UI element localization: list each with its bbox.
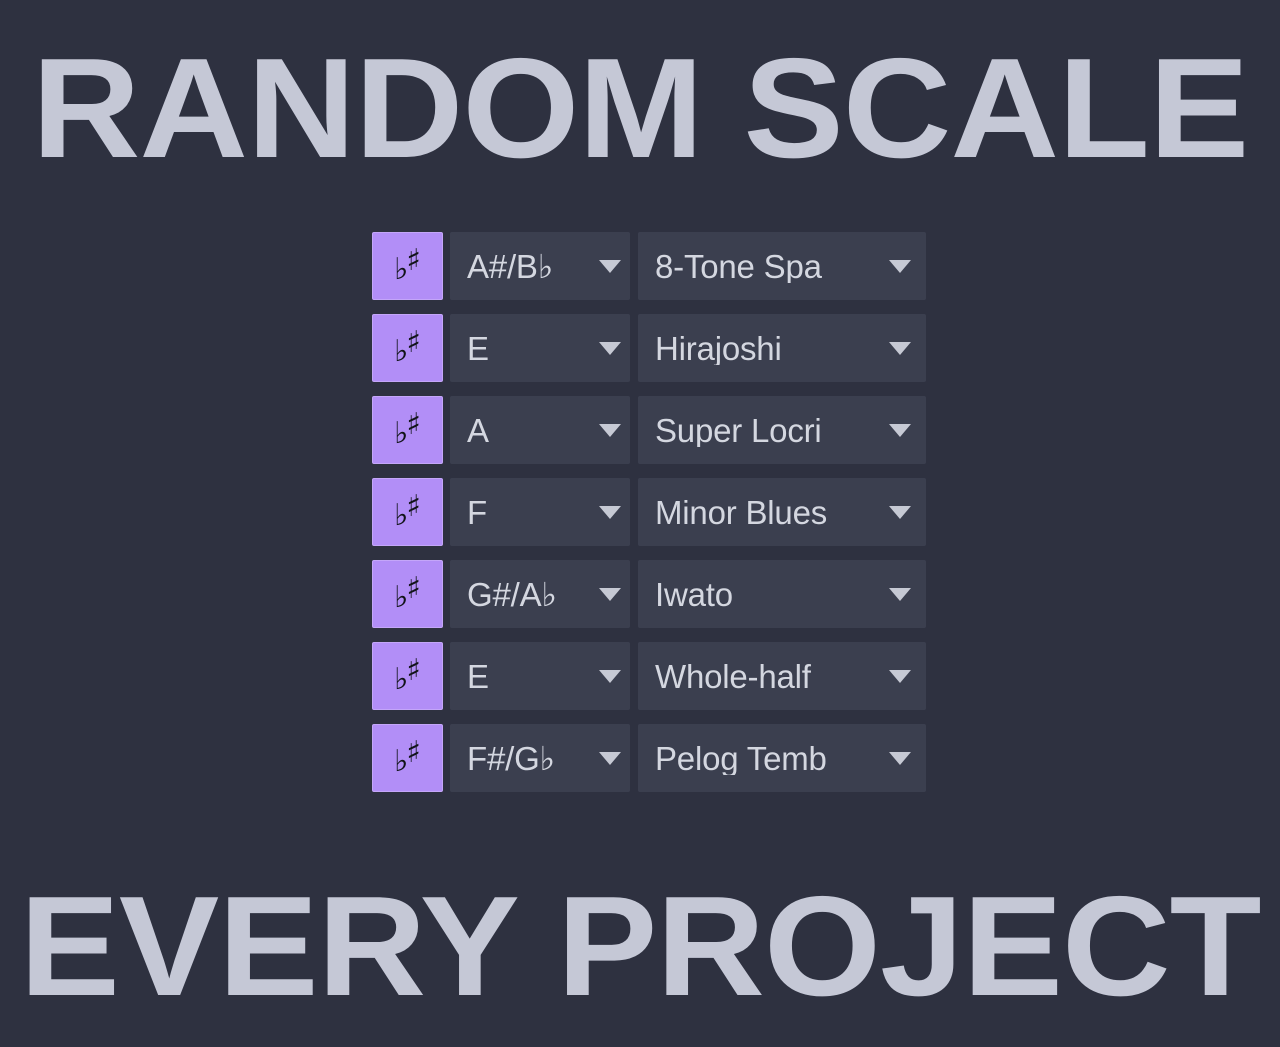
scale-select-value: Whole-half xyxy=(655,660,881,693)
scale-select[interactable]: Super Locri xyxy=(638,396,926,464)
flat-sharp-icon: ♭♯ xyxy=(394,661,421,691)
note-select[interactable]: A#/B♭ xyxy=(450,232,630,300)
chevron-down-icon[interactable] xyxy=(889,506,911,519)
flat-sharp-icon: ♭♯ xyxy=(394,743,421,773)
scale-row: ♭♯F#/G♭Pelog Temb xyxy=(372,724,928,792)
note-select[interactable]: G#/A♭ xyxy=(450,560,630,628)
accidental-toggle-button[interactable]: ♭♯ xyxy=(372,478,443,546)
page-title-bottom: EVERY PROJECT xyxy=(0,876,1280,1018)
scale-row: ♭♯FMinor Blues xyxy=(372,478,928,546)
scale-select[interactable]: Minor Blues xyxy=(638,478,926,546)
page-title-top: RANDOM SCALE xyxy=(0,38,1280,180)
chevron-down-icon[interactable] xyxy=(889,670,911,683)
sharp-icon: ♯ xyxy=(406,243,420,278)
chevron-down-icon[interactable] xyxy=(599,342,621,355)
note-select-value: G#/A♭ xyxy=(467,578,591,611)
note-select[interactable]: E xyxy=(450,642,630,710)
chevron-down-icon[interactable] xyxy=(889,752,911,765)
note-select-value: E xyxy=(467,660,591,693)
scale-select[interactable]: Pelog Temb xyxy=(638,724,926,792)
flat-sharp-icon: ♭♯ xyxy=(394,497,421,527)
chevron-down-icon[interactable] xyxy=(599,260,621,273)
sharp-icon: ♯ xyxy=(406,325,420,360)
accidental-toggle-button[interactable]: ♭♯ xyxy=(372,396,443,464)
sharp-icon: ♯ xyxy=(406,653,420,688)
scale-row: ♭♯G#/A♭Iwato xyxy=(372,560,928,628)
scale-row: ♭♯ASuper Locri xyxy=(372,396,928,464)
flat-sharp-icon: ♭♯ xyxy=(394,579,421,609)
sharp-icon: ♯ xyxy=(406,571,420,606)
scale-row: ♭♯A#/B♭8-Tone Spa xyxy=(372,232,928,300)
note-select[interactable]: F#/G♭ xyxy=(450,724,630,792)
scale-select[interactable]: Iwato xyxy=(638,560,926,628)
scale-select[interactable]: Whole-half xyxy=(638,642,926,710)
accidental-toggle-button[interactable]: ♭♯ xyxy=(372,724,443,792)
note-select-value: A#/B♭ xyxy=(467,250,591,283)
scale-select-value: Pelog Temb xyxy=(655,742,881,775)
accidental-toggle-button[interactable]: ♭♯ xyxy=(372,314,443,382)
accidental-toggle-button[interactable]: ♭♯ xyxy=(372,232,443,300)
scale-select-value: Hirajoshi xyxy=(655,332,881,365)
scale-row-list: ♭♯A#/B♭8-Tone Spa♭♯EHirajoshi♭♯ASuper Lo… xyxy=(372,232,928,792)
chevron-down-icon[interactable] xyxy=(889,424,911,437)
chevron-down-icon[interactable] xyxy=(889,588,911,601)
note-select[interactable]: F xyxy=(450,478,630,546)
scale-select-value: Super Locri xyxy=(655,414,881,447)
scale-select[interactable]: 8-Tone Spa xyxy=(638,232,926,300)
note-select[interactable]: A xyxy=(450,396,630,464)
chevron-down-icon[interactable] xyxy=(599,424,621,437)
chevron-down-icon[interactable] xyxy=(599,752,621,765)
note-select-value: E xyxy=(467,332,591,365)
note-select[interactable]: E xyxy=(450,314,630,382)
flat-sharp-icon: ♭♯ xyxy=(394,415,421,445)
accidental-toggle-button[interactable]: ♭♯ xyxy=(372,642,443,710)
sharp-icon: ♯ xyxy=(406,407,420,442)
scale-select[interactable]: Hirajoshi xyxy=(638,314,926,382)
flat-sharp-icon: ♭♯ xyxy=(394,333,421,363)
scale-row: ♭♯EHirajoshi xyxy=(372,314,928,382)
chevron-down-icon[interactable] xyxy=(889,260,911,273)
chevron-down-icon[interactable] xyxy=(599,506,621,519)
note-select-value: A xyxy=(467,414,591,447)
scale-select-value: 8-Tone Spa xyxy=(655,250,881,283)
sharp-icon: ♯ xyxy=(406,735,420,770)
note-select-value: F xyxy=(467,496,591,529)
flat-sharp-icon: ♭♯ xyxy=(394,251,421,281)
scale-select-value: Iwato xyxy=(655,578,881,611)
chevron-down-icon[interactable] xyxy=(599,670,621,683)
accidental-toggle-button[interactable]: ♭♯ xyxy=(372,560,443,628)
scale-select-value: Minor Blues xyxy=(655,496,881,529)
note-select-value: F#/G♭ xyxy=(467,742,591,775)
chevron-down-icon[interactable] xyxy=(599,588,621,601)
scale-row: ♭♯EWhole-half xyxy=(372,642,928,710)
chevron-down-icon[interactable] xyxy=(889,342,911,355)
sharp-icon: ♯ xyxy=(406,489,420,524)
